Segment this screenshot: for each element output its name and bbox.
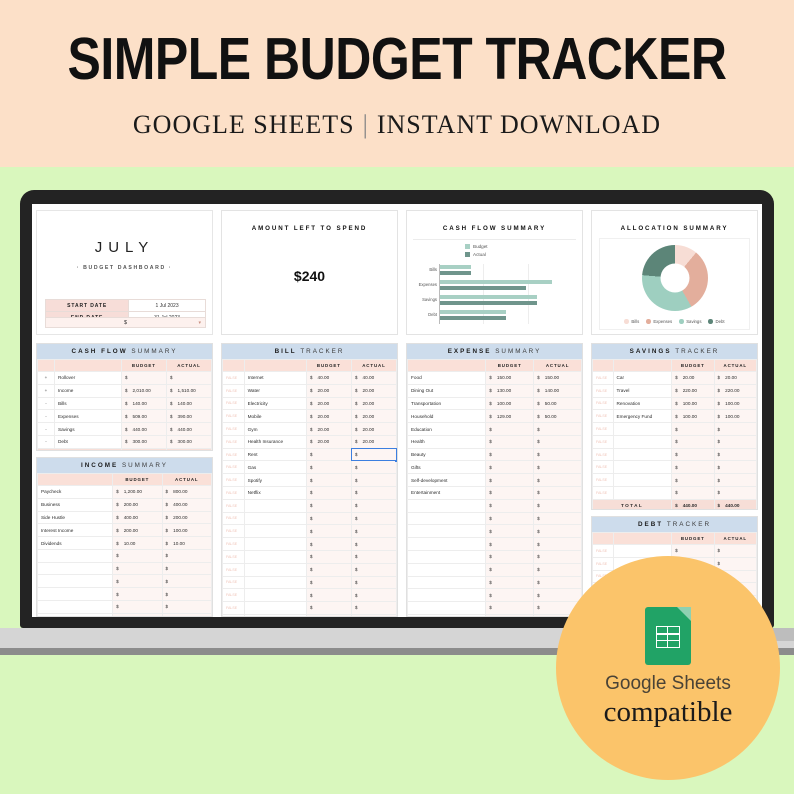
table-row[interactable]: Education$$ <box>408 423 582 436</box>
row-actual[interactable]: $ <box>714 545 756 558</box>
table-row[interactable]: FALSE$$ <box>593 461 757 474</box>
row-category[interactable]: Electricity <box>244 397 306 410</box>
row-category[interactable]: Dividends <box>38 537 113 550</box>
row-actual[interactable]: $ <box>351 525 396 538</box>
row-actual[interactable]: $ <box>534 461 582 474</box>
row-budget[interactable]: $ <box>121 372 166 385</box>
row-category[interactable]: Paycheck <box>38 486 113 499</box>
row-budget[interactable]: $ <box>306 563 351 576</box>
row-actual[interactable]: $100.00 <box>714 410 756 423</box>
row-budget[interactable]: $220.00 <box>672 384 714 397</box>
row-category[interactable]: Income <box>54 384 121 397</box>
row-budget[interactable]: $ <box>306 474 351 487</box>
row-actual[interactable]: $10.00 <box>162 537 211 550</box>
row-category[interactable] <box>408 563 486 576</box>
row-budget[interactable]: $ <box>113 549 162 562</box>
row-category[interactable]: Mobile <box>244 410 306 423</box>
row-category[interactable] <box>38 549 113 562</box>
row-checkbox-state[interactable]: FALSE <box>593 397 614 410</box>
row-budget[interactable]: $ <box>672 461 714 474</box>
row-budget[interactable]: $200.00 <box>113 498 162 511</box>
row-actual[interactable]: $ <box>534 474 582 487</box>
row-category[interactable]: Emergency Fund <box>613 410 672 423</box>
row-category[interactable] <box>38 588 113 601</box>
row-actual[interactable]: $ <box>534 589 582 602</box>
row-category[interactable] <box>38 601 113 614</box>
row-checkbox-state[interactable]: FALSE <box>223 550 245 563</box>
row-checkbox-state[interactable]: FALSE <box>223 614 245 617</box>
row-budget[interactable]: $100.00 <box>672 397 714 410</box>
table-row[interactable]: $$ <box>408 589 582 602</box>
row-actual[interactable]: $ <box>162 549 211 562</box>
row-actual[interactable]: $ <box>162 613 211 617</box>
row-category[interactable]: Health <box>408 435 486 448</box>
table-row[interactable]: FALSE$$ <box>593 423 757 436</box>
row-budget[interactable]: $ <box>306 602 351 615</box>
row-checkbox-state[interactable]: FALSE <box>593 545 614 558</box>
row-checkbox-state[interactable]: FALSE <box>593 384 614 397</box>
row-budget[interactable]: $400.00 <box>113 511 162 524</box>
table-row[interactable]: Beauty$$ <box>408 448 582 461</box>
row-category[interactable] <box>38 613 113 617</box>
table-row[interactable]: $$ <box>38 575 212 588</box>
row-category[interactable] <box>408 576 486 589</box>
row-budget[interactable]: $ <box>306 487 351 500</box>
row-checkbox-state[interactable]: FALSE <box>223 487 245 500</box>
row-actual[interactable]: $ <box>714 461 756 474</box>
row-checkbox-state[interactable]: FALSE <box>223 397 245 410</box>
row-budget[interactable]: $ <box>306 589 351 602</box>
table-row[interactable]: FALSEEmergency Fund$100.00$100.00 <box>593 410 757 423</box>
row-checkbox-state[interactable]: FALSE <box>593 372 614 385</box>
row-actual[interactable]: $390.00 <box>166 410 211 423</box>
row-budget[interactable]: $ <box>486 525 534 538</box>
row-category[interactable]: Education <box>408 423 486 436</box>
row-category[interactable] <box>244 576 306 589</box>
row-actual[interactable]: $ <box>351 538 396 551</box>
row-category[interactable] <box>408 602 486 615</box>
row-budget[interactable]: $ <box>306 538 351 551</box>
table-row[interactable]: $$ <box>38 549 212 562</box>
bill-tracker-grid[interactable]: BUDGETACTUALFALSEInternet$40.00$40.00FAL… <box>222 359 397 617</box>
row-budget[interactable]: $ <box>306 614 351 617</box>
table-row[interactable]: Household$129.00$50.00 <box>408 410 582 423</box>
row-actual[interactable]: $140.00 <box>534 384 582 397</box>
row-actual[interactable]: $ <box>534 576 582 589</box>
row-category[interactable]: Transportation <box>408 397 486 410</box>
row-category[interactable]: Gym <box>244 423 306 436</box>
row-budget[interactable]: $ <box>486 487 534 500</box>
table-row[interactable]: $$ <box>408 550 582 563</box>
row-budget[interactable]: $ <box>306 525 351 538</box>
table-row[interactable]: Side Hustle$400.00$200.00 <box>38 511 212 524</box>
row-actual[interactable]: $ <box>166 372 211 385</box>
row-category[interactable] <box>408 550 486 563</box>
table-row[interactable]: FALSE$$ <box>223 512 397 525</box>
row-actual[interactable]: $ <box>351 461 396 474</box>
table-row[interactable]: FALSE$$ <box>593 448 757 461</box>
row-budget[interactable]: $ <box>113 613 162 617</box>
savings-tracker-grid[interactable]: BUDGETACTUALFALSECar$20.00$20.00FALSETra… <box>592 359 757 510</box>
row-actual[interactable]: $ <box>351 512 396 525</box>
row-category[interactable] <box>244 512 306 525</box>
row-category[interactable]: Water <box>244 384 306 397</box>
row-category[interactable]: Car <box>613 372 672 385</box>
table-row[interactable]: FALSE$$ <box>223 614 397 617</box>
table-row[interactable]: $$ <box>38 613 212 617</box>
row-budget[interactable]: $100.00 <box>486 397 534 410</box>
row-actual[interactable]: $ <box>534 550 582 563</box>
row-category[interactable] <box>244 499 306 512</box>
table-row[interactable]: FALSEInternet$40.00$40.00 <box>223 372 397 385</box>
row-category[interactable] <box>244 589 306 602</box>
row-category[interactable] <box>613 448 672 461</box>
row-budget[interactable]: $ <box>486 423 534 436</box>
table-row[interactable]: Paycheck$1,200.00$800.00 <box>38 486 212 499</box>
row-actual[interactable]: $ <box>714 423 756 436</box>
row-category[interactable]: Rent <box>244 448 306 461</box>
table-row[interactable]: $$ <box>38 588 212 601</box>
row-actual[interactable]: $100.00 <box>162 524 211 537</box>
row-actual[interactable]: $ <box>534 525 582 538</box>
table-row[interactable]: -Debt$300.00$300.00 <box>38 435 212 448</box>
table-row[interactable]: FALSE$$ <box>593 487 757 500</box>
row-actual[interactable]: $ <box>534 499 582 512</box>
table-row[interactable]: $$ <box>408 576 582 589</box>
row-budget[interactable]: $ <box>306 576 351 589</box>
row-category[interactable]: Expenses <box>54 410 121 423</box>
row-budget[interactable]: $129.00 <box>486 410 534 423</box>
row-checkbox-state[interactable]: FALSE <box>223 499 245 512</box>
row-category[interactable] <box>408 525 486 538</box>
table-row[interactable]: FALSEMobile$20.00$20.00 <box>223 410 397 423</box>
table-row[interactable]: Dividends$10.00$10.00 <box>38 537 212 550</box>
row-actual[interactable]: $ <box>351 589 396 602</box>
row-actual[interactable]: $150.00 <box>534 372 582 385</box>
row-actual[interactable]: $ <box>351 474 396 487</box>
table-row[interactable]: FALSECar$20.00$20.00 <box>593 372 757 385</box>
row-actual[interactable]: $ <box>351 563 396 576</box>
row-category[interactable] <box>408 538 486 551</box>
row-actual[interactable]: $300.00 <box>166 435 211 448</box>
row-budget[interactable]: $ <box>113 562 162 575</box>
row-checkbox-state[interactable]: FALSE <box>593 448 614 461</box>
table-row[interactable]: Food$150.00$150.00 <box>408 372 582 385</box>
row-actual[interactable]: $ <box>534 435 582 448</box>
row-budget[interactable]: $ <box>486 602 534 615</box>
row-category[interactable]: Spotify <box>244 474 306 487</box>
row-checkbox-state[interactable]: FALSE <box>593 557 614 570</box>
row-budget[interactable]: $1,200.00 <box>113 486 162 499</box>
row-budget[interactable]: $ <box>672 545 714 558</box>
row-checkbox-state[interactable]: FALSE <box>223 384 245 397</box>
row-actual[interactable]: $ <box>351 576 396 589</box>
row-actual[interactable]: $220.00 <box>714 384 756 397</box>
row-category[interactable] <box>244 563 306 576</box>
row-checkbox-state[interactable]: FALSE <box>223 435 245 448</box>
row-budget[interactable]: $ <box>486 461 534 474</box>
row-checkbox-state[interactable]: FALSE <box>223 474 245 487</box>
table-row[interactable]: FALSEHealth Insurance$20.00$20.00 <box>223 435 397 448</box>
table-row[interactable]: FALSERenovation$100.00$100.00 <box>593 397 757 410</box>
row-budget[interactable]: $ <box>486 614 534 617</box>
row-category[interactable]: Gifts <box>408 461 486 474</box>
row-category[interactable]: Self-development <box>408 474 486 487</box>
row-category[interactable]: Business <box>38 498 113 511</box>
currency-selector[interactable]: $ ▾ <box>45 317 206 328</box>
row-checkbox-state[interactable]: FALSE <box>593 423 614 436</box>
row-budget[interactable]: $20.00 <box>306 435 351 448</box>
table-row[interactable]: $$ <box>408 499 582 512</box>
table-row[interactable]: $$ <box>408 525 582 538</box>
row-checkbox-state[interactable]: FALSE <box>593 435 614 448</box>
row-category[interactable] <box>613 435 672 448</box>
row-budget[interactable]: $150.00 <box>486 372 534 385</box>
row-actual[interactable]: $440.00 <box>166 423 211 436</box>
table-row[interactable]: FALSE$$ <box>223 538 397 551</box>
row-category[interactable]: Renovation <box>613 397 672 410</box>
row-category[interactable] <box>244 614 306 617</box>
row-budget[interactable]: $ <box>672 435 714 448</box>
row-actual[interactable]: $ <box>162 562 211 575</box>
row-budget[interactable]: $ <box>486 576 534 589</box>
table-row[interactable]: $$ <box>38 562 212 575</box>
row-budget[interactable]: $ <box>672 423 714 436</box>
row-budget[interactable]: $ <box>113 588 162 601</box>
row-budget[interactable]: $20.00 <box>306 397 351 410</box>
row-actual[interactable]: $ <box>351 499 396 512</box>
row-category[interactable]: Savings <box>54 423 121 436</box>
table-row[interactable]: FALSE$$ <box>223 499 397 512</box>
row-budget[interactable]: $300.00 <box>121 435 166 448</box>
table-row[interactable]: $$ <box>408 512 582 525</box>
row-budget[interactable]: $ <box>486 589 534 602</box>
row-actual[interactable]: $ <box>351 602 396 615</box>
row-budget[interactable]: $20.00 <box>306 410 351 423</box>
row-budget[interactable]: $130.00 <box>486 384 534 397</box>
row-budget[interactable]: $ <box>306 550 351 563</box>
row-actual[interactable]: $20.00 <box>351 397 396 410</box>
row-category[interactable] <box>408 512 486 525</box>
table-row[interactable]: -Savings$440.00$440.00 <box>38 423 212 436</box>
row-category[interactable]: Netflix <box>244 487 306 500</box>
row-actual[interactable]: $800.00 <box>162 486 211 499</box>
table-row[interactable]: FALSE$$ <box>223 563 397 576</box>
table-row[interactable]: FALSE$$ <box>223 602 397 615</box>
table-row[interactable]: FALSERent$$ <box>223 448 397 461</box>
row-budget[interactable]: $40.00 <box>306 372 351 385</box>
expense-summary-grid[interactable]: BUDGETACTUALFood$150.00$150.00Dining Out… <box>407 359 582 617</box>
row-actual[interactable]: $ <box>351 448 396 461</box>
row-budget[interactable]: $100.00 <box>672 410 714 423</box>
row-actual[interactable]: $ <box>351 487 396 500</box>
row-checkbox-state[interactable]: FALSE <box>223 448 245 461</box>
row-budget[interactable]: $ <box>486 538 534 551</box>
row-checkbox-state[interactable]: FALSE <box>223 461 245 474</box>
row-budget[interactable]: $ <box>672 487 714 500</box>
row-budget[interactable]: $ <box>113 601 162 614</box>
row-category[interactable]: Entertainment <box>408 487 486 500</box>
table-row[interactable]: Entertainment$$ <box>408 487 582 500</box>
row-category[interactable] <box>408 614 486 617</box>
row-budget[interactable]: $440.00 <box>121 423 166 436</box>
row-checkbox-state[interactable]: FALSE <box>593 474 614 487</box>
table-row[interactable]: $$ <box>408 538 582 551</box>
row-category[interactable]: Rollover <box>54 372 121 385</box>
row-checkbox-state[interactable]: FALSE <box>223 525 245 538</box>
row-budget[interactable]: $509.00 <box>121 410 166 423</box>
table-row[interactable]: Dining Out$130.00$140.00 <box>408 384 582 397</box>
row-actual[interactable]: $400.00 <box>162 498 211 511</box>
table-row[interactable]: $$ <box>408 602 582 615</box>
row-budget[interactable]: $ <box>672 448 714 461</box>
row-category[interactable]: Dining Out <box>408 384 486 397</box>
row-checkbox-state[interactable]: FALSE <box>593 487 614 500</box>
row-category[interactable] <box>613 487 672 500</box>
row-actual[interactable]: $20.00 <box>351 410 396 423</box>
table-row[interactable]: +Rollover$$ <box>38 372 212 385</box>
table-row[interactable]: FALSE$$ <box>593 474 757 487</box>
table-row[interactable]: FALSE$$ <box>223 525 397 538</box>
row-checkbox-state[interactable]: FALSE <box>223 589 245 602</box>
row-checkbox-state[interactable]: FALSE <box>223 423 245 436</box>
row-category[interactable] <box>244 525 306 538</box>
row-category[interactable]: Debt <box>54 435 121 448</box>
row-category[interactable]: Food <box>408 372 486 385</box>
row-category[interactable]: Internet <box>244 372 306 385</box>
row-actual[interactable]: $20.00 <box>351 384 396 397</box>
row-actual[interactable]: $140.00 <box>166 397 211 410</box>
row-budget[interactable]: $ <box>486 550 534 563</box>
row-budget[interactable]: $10.00 <box>113 537 162 550</box>
row-category[interactable]: Health Insurance <box>244 435 306 448</box>
row-actual[interactable]: $ <box>162 575 211 588</box>
row-budget[interactable]: $140.00 <box>121 397 166 410</box>
row-category[interactable] <box>408 589 486 602</box>
table-row[interactable]: Gifts$$ <box>408 461 582 474</box>
row-category[interactable] <box>244 538 306 551</box>
row-category[interactable] <box>613 474 672 487</box>
row-checkbox-state[interactable]: FALSE <box>223 372 245 385</box>
table-row[interactable]: FALSEElectricity$20.00$20.00 <box>223 397 397 410</box>
row-budget[interactable]: $ <box>306 448 351 461</box>
row-actual[interactable]: $ <box>351 550 396 563</box>
row-actual[interactable]: $1,510.00 <box>166 384 211 397</box>
row-actual[interactable]: $ <box>714 474 756 487</box>
row-actual[interactable]: $ <box>162 588 211 601</box>
row-actual[interactable]: $ <box>714 435 756 448</box>
table-row[interactable]: $$ <box>38 601 212 614</box>
row-actual[interactable]: $ <box>534 512 582 525</box>
table-row[interactable]: -Bills$140.00$140.00 <box>38 397 212 410</box>
row-checkbox-state[interactable]: FALSE <box>223 576 245 589</box>
row-category[interactable]: Travel <box>613 384 672 397</box>
table-row[interactable]: Interest Income$200.00$100.00 <box>38 524 212 537</box>
row-checkbox-state[interactable]: FALSE <box>223 602 245 615</box>
row-budget[interactable]: $20.00 <box>306 423 351 436</box>
row-budget[interactable]: $20.00 <box>672 372 714 385</box>
row-actual[interactable]: $ <box>534 538 582 551</box>
row-category[interactable]: Household <box>408 410 486 423</box>
row-budget[interactable]: $ <box>306 499 351 512</box>
table-row[interactable]: Self-development$$ <box>408 474 582 487</box>
row-budget[interactable]: $ <box>486 435 534 448</box>
table-row[interactable]: FALSE$$ <box>223 550 397 563</box>
row-budget[interactable]: $ <box>113 575 162 588</box>
table-row[interactable]: -Expenses$509.00$390.00 <box>38 410 212 423</box>
table-row[interactable]: $$ <box>408 614 582 617</box>
row-budget[interactable]: $ <box>486 474 534 487</box>
row-actual[interactable]: $ <box>534 563 582 576</box>
start-date-value[interactable]: 1 Jul 2023 <box>129 300 206 312</box>
row-actual[interactable]: $20.00 <box>351 423 396 436</box>
row-category[interactable] <box>244 602 306 615</box>
row-category[interactable] <box>244 550 306 563</box>
row-category[interactable]: Gas <box>244 461 306 474</box>
row-category[interactable]: Side Hustle <box>38 511 113 524</box>
row-checkbox-state[interactable]: FALSE <box>593 410 614 423</box>
table-row[interactable]: FALSEGym$20.00$20.00 <box>223 423 397 436</box>
spreadsheet-canvas[interactable]: JULY · BUDGET DASHBOARD · START DATE 1 J… <box>32 204 762 617</box>
table-row[interactable]: $$ <box>408 563 582 576</box>
row-checkbox-state[interactable]: FALSE <box>223 512 245 525</box>
row-actual[interactable]: $20.00 <box>351 435 396 448</box>
row-checkbox-state[interactable]: FALSE <box>223 410 245 423</box>
row-actual[interactable]: $40.00 <box>351 372 396 385</box>
row-budget[interactable]: $ <box>486 512 534 525</box>
row-actual[interactable]: $ <box>714 448 756 461</box>
row-budget[interactable]: $ <box>486 448 534 461</box>
row-actual[interactable]: $200.00 <box>162 511 211 524</box>
row-checkbox-state[interactable]: FALSE <box>593 461 614 474</box>
table-row[interactable]: FALSE$$ <box>223 576 397 589</box>
row-actual[interactable]: $ <box>714 487 756 500</box>
row-category[interactable] <box>38 575 113 588</box>
row-actual[interactable]: $ <box>534 487 582 500</box>
table-row[interactable]: FALSENetflix$$ <box>223 487 397 500</box>
table-row[interactable]: Transportation$100.00$50.00 <box>408 397 582 410</box>
row-category[interactable] <box>613 423 672 436</box>
table-row[interactable]: Business$200.00$400.00 <box>38 498 212 511</box>
table-row[interactable]: FALSEWater$20.00$20.00 <box>223 384 397 397</box>
row-actual[interactable]: $ <box>351 614 396 617</box>
row-budget[interactable]: $ <box>486 499 534 512</box>
table-row[interactable]: Health$$ <box>408 435 582 448</box>
table-row[interactable]: FALSEGas$$ <box>223 461 397 474</box>
row-actual[interactable]: $20.00 <box>714 372 756 385</box>
row-budget[interactable]: $200.00 <box>113 524 162 537</box>
row-actual[interactable]: $ <box>534 423 582 436</box>
row-budget[interactable]: $2,010.00 <box>121 384 166 397</box>
row-checkbox-state[interactable]: FALSE <box>223 538 245 551</box>
row-budget[interactable]: $ <box>486 563 534 576</box>
row-category[interactable] <box>408 499 486 512</box>
table-row[interactable]: FALSE$$ <box>223 589 397 602</box>
row-actual[interactable]: $ <box>534 448 582 461</box>
row-category[interactable] <box>38 562 113 575</box>
income-summary-grid[interactable]: BUDGETACTUALPaycheck$1,200.00$800.00Busi… <box>37 473 212 617</box>
row-category[interactable]: Beauty <box>408 448 486 461</box>
row-actual[interactable]: $ <box>162 601 211 614</box>
row-budget[interactable]: $ <box>306 512 351 525</box>
table-row[interactable]: FALSE$$ <box>593 435 757 448</box>
row-checkbox-state[interactable]: FALSE <box>223 563 245 576</box>
row-actual[interactable]: $50.00 <box>534 410 582 423</box>
table-row[interactable]: FALSETravel$220.00$220.00 <box>593 384 757 397</box>
row-budget[interactable]: $20.00 <box>306 384 351 397</box>
row-actual[interactable]: $50.00 <box>534 397 582 410</box>
row-actual[interactable]: $100.00 <box>714 397 756 410</box>
